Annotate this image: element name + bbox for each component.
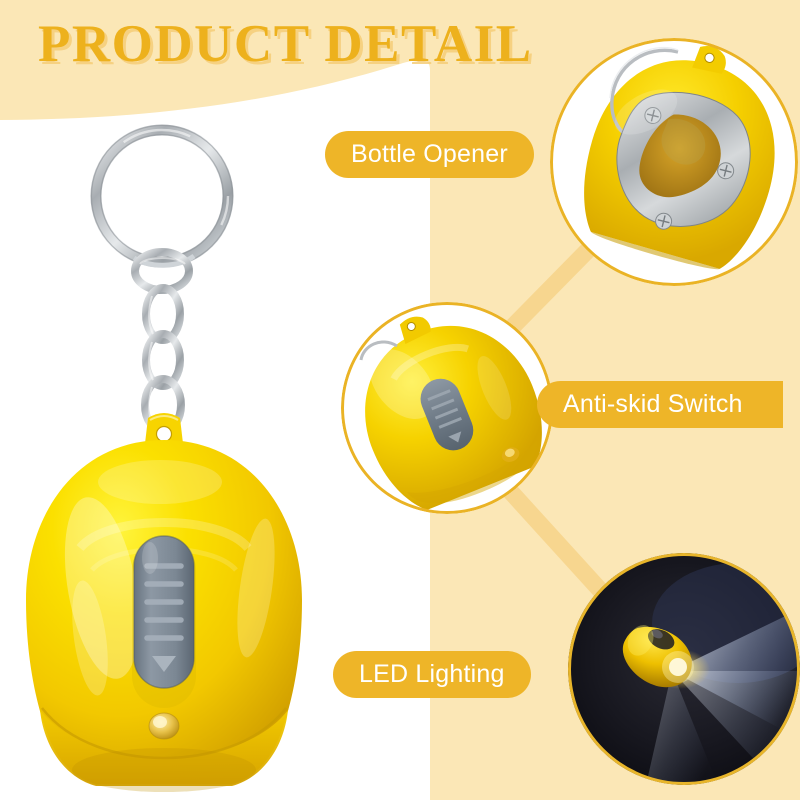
label-led-lighting[interactable]: LED Lighting <box>333 651 531 698</box>
page-title: PRODUCT DETAIL <box>38 14 533 74</box>
chain <box>135 252 189 431</box>
led-bulb <box>149 713 179 739</box>
bottle-opener-photo <box>550 38 798 286</box>
anti-skid-switch-photo <box>341 302 553 514</box>
main-product-keychain <box>10 118 350 798</box>
label-anti-skid-switch-text: Anti-skid Switch <box>563 390 743 419</box>
feature-circle-led-lighting[interactable] <box>568 553 800 785</box>
label-bottle-opener-text: Bottle Opener <box>351 140 508 169</box>
feature-circle-anti-skid-switch[interactable] <box>341 302 553 514</box>
led-lighting-photo <box>568 553 800 785</box>
feature-circle-bottle-opener[interactable] <box>550 38 798 286</box>
split-ring <box>92 126 233 267</box>
label-bottle-opener[interactable]: Bottle Opener <box>325 131 534 178</box>
slide-switch <box>132 536 196 708</box>
label-led-lighting-text: LED Lighting <box>359 660 505 689</box>
label-anti-skid-switch[interactable]: Anti-skid Switch <box>537 381 783 428</box>
product-detail-infographic: PRODUCT DETAIL <box>0 0 800 800</box>
